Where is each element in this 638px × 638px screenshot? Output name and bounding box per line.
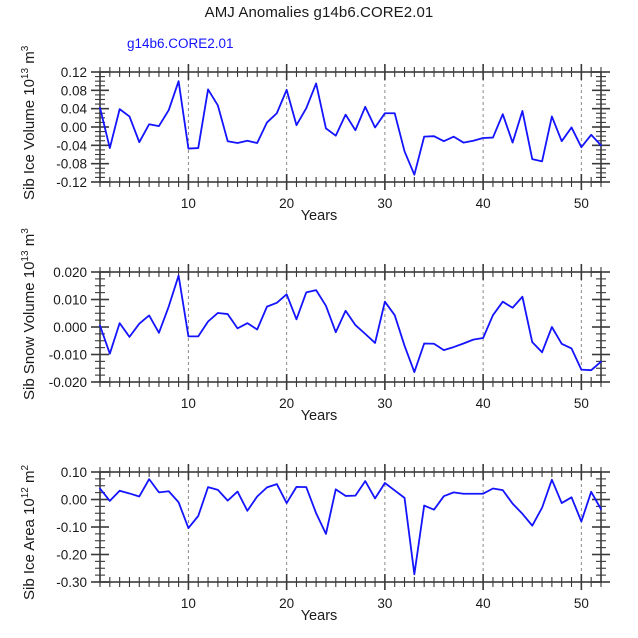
- x-axis-title-panel-2: Years: [0, 608, 638, 624]
- panel-sib-ice-area: Sib Ice Area 1012 m2 0.100.00-0.10-0.20-…: [0, 460, 638, 638]
- y-tick-label: -0.10: [56, 520, 87, 535]
- y-tick-label: 0.10: [61, 465, 87, 480]
- y-tick-label: -0.08: [56, 157, 87, 172]
- y-tick-label: 0.020: [53, 265, 87, 280]
- x-axis-title-panel-0: Years: [0, 208, 638, 224]
- panel-sib-ice-volume: Sib Ice Volume 1013 m3 0.120.080.040.00-…: [0, 60, 638, 230]
- y-tick-label: 0.00: [61, 120, 87, 135]
- y-tick-label: -0.010: [49, 348, 87, 363]
- figure-title: AMJ Anomalies g14b6.CORE2.01: [0, 4, 638, 21]
- y-tick-label: -0.04: [56, 138, 87, 153]
- y-tick-label: 0.000: [53, 320, 87, 335]
- series-legend-label: g14b6.CORE2.01: [127, 36, 234, 51]
- plot-svg-panel-0: 0.120.080.040.00-0.04-0.08-0.12102030405…: [0, 60, 638, 230]
- y-tick-label: 0.010: [53, 293, 87, 308]
- plot-svg-panel-1: 0.0200.0100.000-0.010-0.0201020304050: [0, 260, 638, 430]
- data-series-line: [100, 479, 601, 574]
- y-tick-label: 0.12: [61, 65, 87, 80]
- data-series-line: [100, 81, 601, 175]
- x-axis-title-panel-1: Years: [0, 408, 638, 424]
- y-tick-label: 0.00: [61, 493, 87, 508]
- panel-sib-snow-volume: Sib Snow Volume 1013 m3 0.0200.0100.000-…: [0, 260, 638, 430]
- y-tick-label: 0.04: [61, 102, 88, 117]
- y-tick-label: -0.20: [56, 548, 87, 563]
- y-tick-label: -0.020: [49, 375, 87, 390]
- figure-root: AMJ Anomalies g14b6.CORE2.01 g14b6.CORE2…: [0, 0, 638, 638]
- y-tick-label: 0.08: [61, 83, 87, 98]
- y-tick-label: -0.12: [56, 175, 87, 190]
- y-tick-label: -0.30: [56, 575, 87, 590]
- plot-svg-panel-2: 0.100.00-0.10-0.20-0.301020304050: [0, 460, 638, 630]
- data-series-line: [100, 276, 601, 373]
